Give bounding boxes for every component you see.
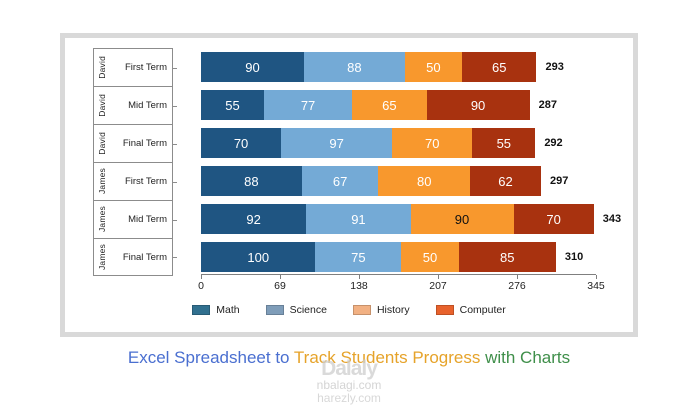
- legend-swatch-icon: [353, 305, 371, 315]
- row-total-label: 297: [550, 175, 568, 187]
- row-tick-mark: [172, 182, 177, 183]
- chart-row: DavidFinal Term70977055292: [93, 124, 629, 162]
- bar-segment-science[interactable]: 67: [302, 166, 379, 196]
- bar-segment-history[interactable]: 50: [401, 242, 458, 272]
- row-student-name: David: [98, 94, 107, 117]
- row-term-label: Mid Term: [107, 214, 173, 225]
- page-caption: Excel Spreadsheet to Track Students Prog…: [0, 348, 698, 368]
- legend-label: Science: [290, 304, 327, 316]
- x-axis-ticks: 069138207276345: [201, 275, 596, 295]
- legend-label: Computer: [460, 304, 506, 316]
- row-term-label: Final Term: [107, 138, 173, 149]
- axis-tick: [596, 275, 597, 279]
- row-total-label: 287: [539, 99, 557, 111]
- axis-tick-label: 276: [508, 280, 526, 292]
- bar-segment-computer[interactable]: 70: [514, 204, 594, 234]
- chart-row: DavidMid Term55776590287: [93, 86, 629, 124]
- bar-segment-history[interactable]: 65: [352, 90, 426, 120]
- row-label: JamesFirst Term: [93, 162, 173, 200]
- row-label: DavidMid Term: [93, 86, 173, 124]
- row-student-name: David: [98, 56, 107, 79]
- stacked-bar[interactable]: 88678062: [201, 166, 541, 196]
- bar-segment-math[interactable]: 90: [201, 52, 304, 82]
- axis-tick: [280, 275, 281, 279]
- axis-tick: [438, 275, 439, 279]
- row-tick-mark: [172, 220, 177, 221]
- axis-tick-label: 69: [274, 280, 286, 292]
- bar-segment-computer[interactable]: 55: [472, 128, 535, 158]
- row-tick-mark: [172, 68, 177, 69]
- row-total-label: 343: [603, 213, 621, 225]
- bar-segment-math[interactable]: 88: [201, 166, 302, 196]
- bar-segment-science[interactable]: 88: [304, 52, 405, 82]
- bar-segment-math[interactable]: 55: [201, 90, 264, 120]
- bar-segment-history[interactable]: 90: [411, 204, 514, 234]
- row-tick-mark: [172, 144, 177, 145]
- stacked-bar[interactable]: 70977055: [201, 128, 535, 158]
- row-student-name: James: [98, 206, 107, 232]
- chart-row: DavidFirst Term90885065293: [93, 48, 629, 86]
- row-term-label: First Term: [107, 176, 173, 187]
- caption-part-1: Excel Spreadsheet to: [128, 348, 294, 367]
- caption-part-3: with Charts: [480, 348, 570, 367]
- legend-swatch-icon: [436, 305, 454, 315]
- bar-segment-history[interactable]: 80: [378, 166, 470, 196]
- stacked-bar[interactable]: 55776590: [201, 90, 530, 120]
- axis-tick-label: 138: [350, 280, 368, 292]
- legend-label: Math: [216, 304, 239, 316]
- axis-tick: [201, 275, 202, 279]
- row-total-label: 292: [544, 137, 562, 149]
- legend-item-history[interactable]: History: [353, 304, 410, 316]
- legend-item-math[interactable]: Math: [192, 304, 239, 316]
- legend-swatch-icon: [266, 305, 284, 315]
- bar-segment-history[interactable]: 50: [405, 52, 462, 82]
- row-term-label: Final Term: [107, 252, 173, 263]
- row-label: JamesFinal Term: [93, 238, 173, 276]
- legend-item-computer[interactable]: Computer: [436, 304, 506, 316]
- stacked-bar[interactable]: 92919070: [201, 204, 594, 234]
- bar-segment-math[interactable]: 70: [201, 128, 281, 158]
- bar-segment-math[interactable]: 92: [201, 204, 306, 234]
- bar-segment-history[interactable]: 70: [392, 128, 472, 158]
- caption-part-2: Track Students Progress: [294, 348, 480, 367]
- bar-segment-science[interactable]: 91: [306, 204, 410, 234]
- stacked-bar[interactable]: 100755085: [201, 242, 556, 272]
- stacked-bar[interactable]: 90885065: [201, 52, 536, 82]
- watermark-line-3: harezly.com: [0, 392, 698, 405]
- chart-legend: MathScienceHistoryComputer: [65, 304, 633, 316]
- row-total-label: 293: [545, 61, 563, 73]
- row-tick-mark: [172, 106, 177, 107]
- row-label: DavidFinal Term: [93, 124, 173, 162]
- row-tick-mark: [172, 257, 177, 258]
- bar-segment-computer[interactable]: 62: [470, 166, 541, 196]
- axis-tick: [517, 275, 518, 279]
- row-term-label: First Term: [107, 62, 173, 73]
- axis-tick-label: 207: [429, 280, 447, 292]
- row-student-name: James: [98, 168, 107, 194]
- bar-segment-computer[interactable]: 85: [459, 242, 556, 272]
- row-label: JamesMid Term: [93, 200, 173, 238]
- row-total-label: 310: [565, 251, 583, 263]
- bar-segment-math[interactable]: 100: [201, 242, 315, 272]
- row-term-label: Mid Term: [107, 100, 173, 111]
- row-label: DavidFirst Term: [93, 48, 173, 86]
- axis-tick-label: 0: [198, 280, 204, 292]
- bar-segment-science[interactable]: 97: [281, 128, 392, 158]
- row-student-name: David: [98, 132, 107, 155]
- legend-label: History: [377, 304, 410, 316]
- bar-segment-computer[interactable]: 65: [462, 52, 536, 82]
- bar-segment-science[interactable]: 75: [315, 242, 401, 272]
- row-student-name: James: [98, 244, 107, 270]
- chart-row: JamesMid Term92919070343: [93, 200, 629, 238]
- axis-tick-label: 345: [587, 280, 605, 292]
- chart-row: JamesFirst Term88678062297: [93, 162, 629, 200]
- bar-segment-science[interactable]: 77: [264, 90, 352, 120]
- chart-row: JamesFinal Term100755085310: [93, 238, 629, 276]
- legend-swatch-icon: [192, 305, 210, 315]
- watermark-line-2: nbalagi.com: [0, 379, 698, 392]
- bar-segment-computer[interactable]: 90: [427, 90, 530, 120]
- plot-area: DavidFirst Term90885065293DavidMid Term5…: [65, 38, 633, 332]
- legend-item-science[interactable]: Science: [266, 304, 327, 316]
- axis-tick: [359, 275, 360, 279]
- chart-card: DavidFirst Term90885065293DavidMid Term5…: [60, 33, 638, 337]
